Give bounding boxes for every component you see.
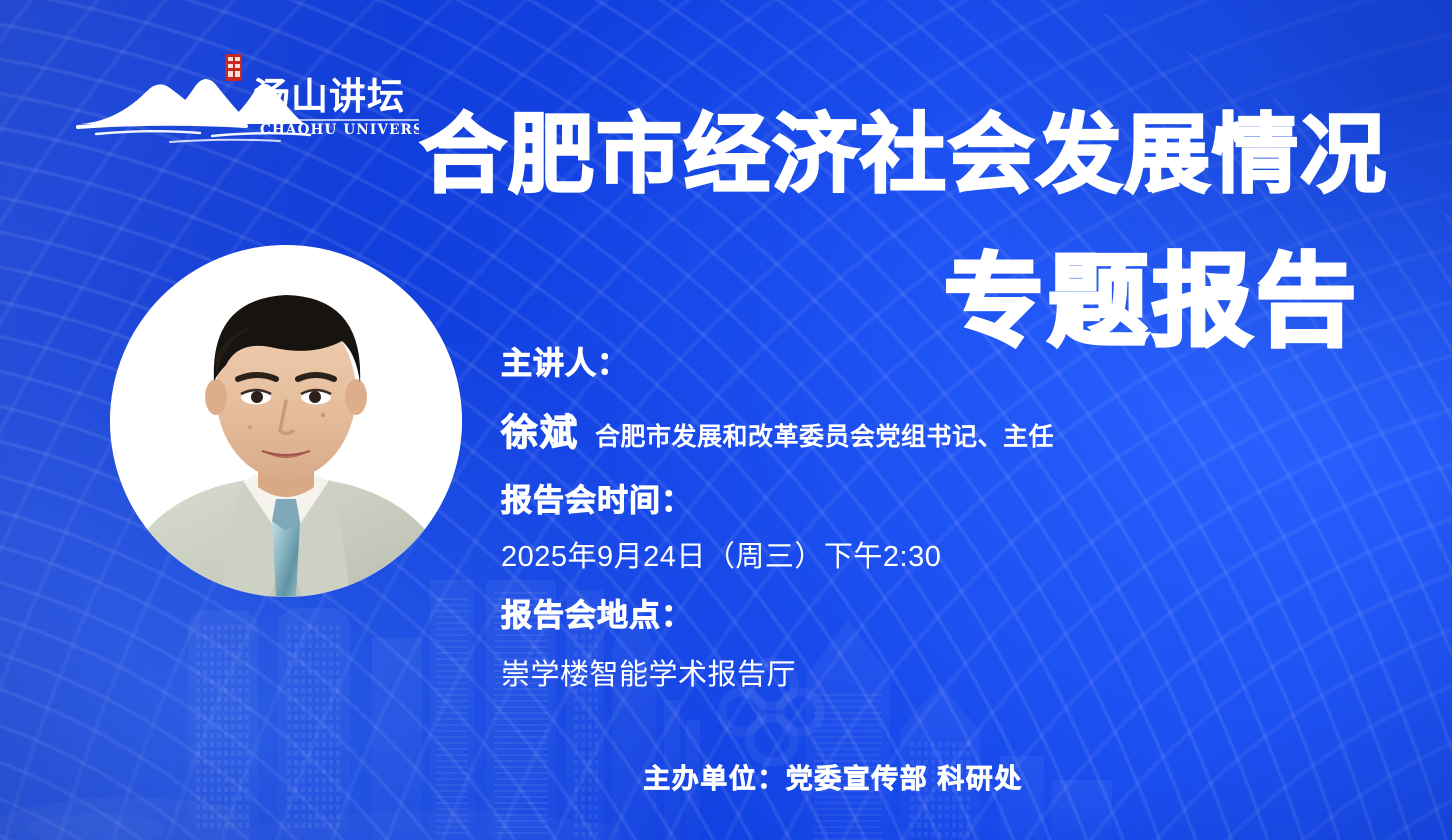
time-value: 2025年9月24日（周三）下午2:30 [501,533,1281,575]
speaker-portrait [110,245,462,597]
red-seal-stamp [225,54,242,81]
chaohu-university-logo: 汤山讲坛 CHAOHU UNIVERSITY [74,52,419,148]
portrait-illustration [110,245,462,597]
poster-canvas: 汤山讲坛 CHAOHU UNIVERSITY [0,0,1452,840]
speaker-row: 徐斌 合肥市发展和改革委员会党组书记、主任 [501,402,1281,456]
organizer-footer: 主办单位：党委宣传部 科研处 [0,757,1452,796]
place-label: 报告会地点： [501,597,1281,634]
headline-block: 合肥市经济社会发展情况 专题报告 [420,112,1360,352]
speaker-name: 徐斌 [501,402,579,456]
speaker-title: 合肥市发展和改革委员会党组书记、主任 [595,417,1054,453]
event-info-block: 主讲人： 徐斌 合肥市发展和改革委员会党组书记、主任 报告会时间： 2025年9… [501,345,1281,693]
logo-brand-en: CHAOHU UNIVERSITY [260,122,419,138]
speaker-label: 主讲人： [501,345,1281,382]
place-value: 崇学楼智能学术报告厅 [501,651,1281,693]
time-label: 报告会时间： [501,482,1281,519]
logo-brand-cn: 汤山讲坛 [253,74,405,118]
poster-subtitle: 专题报告 [420,252,1360,352]
organizer-text: 主办单位：党委宣传部 科研处 [643,764,1023,794]
poster-title: 合肥市经济社会发展情况 [420,112,1360,198]
